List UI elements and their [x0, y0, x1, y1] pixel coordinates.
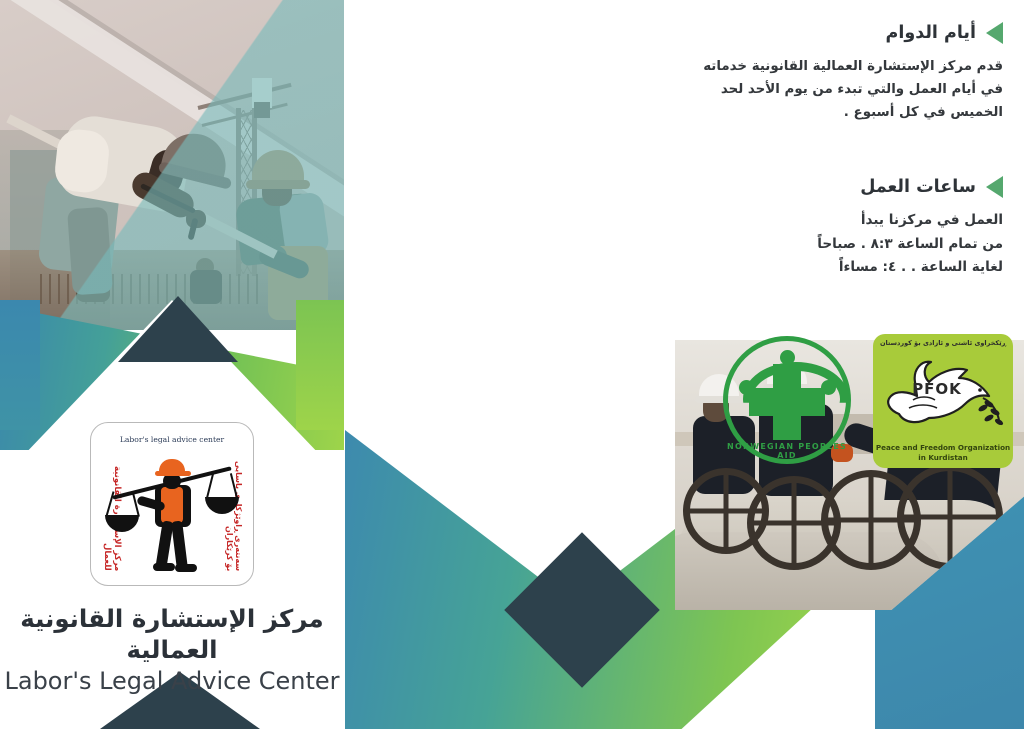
working-days-column: أيام الدوام قدم مركز الإستشارة العمالية …: [703, 22, 1003, 279]
labors-legal-advice-center-logo: Labor's legal advice center مركز الإستشا…: [90, 422, 254, 586]
logo-english-caption: Labor's legal advice center: [91, 435, 253, 444]
pfok-kurdish-text: ڕێکخراوی ئاشتی و ئازادی بۆ کوردستان: [873, 339, 1013, 347]
brochure-page: Labor's legal advice center مركز الإستشا…: [0, 0, 1024, 729]
pfok-abbreviation: PFOK: [873, 380, 1001, 398]
working-hours-heading-row: ساعات العمل: [703, 176, 1003, 198]
left-band-edge-blue: [0, 300, 40, 430]
working-hours-line-2: من تمام الساعة ٨:٣ . صباحاً: [703, 233, 1003, 256]
working-hours-line-3: لغاية الساعة . . ٤: مساءاً: [703, 256, 1003, 279]
left-band-edge-green: [296, 300, 344, 430]
cover-title-block: مركز الإستشارة القانونية العمالية Labor'…: [0, 604, 344, 697]
working-hours-heading: ساعات العمل: [860, 177, 976, 197]
worker-with-scales-figure: [143, 459, 207, 571]
working-days-heading: أيام الدوام: [886, 23, 976, 43]
section-spacer: [703, 124, 1003, 176]
cover-title-english: Labor's Legal Advice Center: [0, 666, 344, 697]
working-hours-line-1: العمل في مركزنا يبدأ: [703, 209, 1003, 232]
panel-divider: [344, 0, 345, 729]
triangle-left-icon: [986, 22, 1003, 44]
pfok-caption: Peace and Freedom Organization in Kurdis…: [873, 443, 1013, 462]
content-panel: NORWEGIAN PEOPLES AID ڕێکخراوی ئاشتی و ئ…: [345, 0, 1024, 729]
dove-icon: [879, 352, 1007, 448]
pfok-caption-line-2: in Kurdistan: [873, 453, 1013, 462]
npa-head-icon: [780, 350, 795, 365]
pfok-caption-line-1: Peace and Freedom Organization: [873, 443, 1013, 452]
working-days-body: قدم مركز الإستشارة العمالية القانونية خد…: [703, 55, 1003, 124]
triangle-left-icon: [986, 176, 1003, 198]
norwegian-peoples-aid-logo: NORWEGIAN PEOPLES AID: [723, 336, 851, 464]
npa-cross-icon: [749, 388, 825, 416]
cover-title-arabic: مركز الإستشارة القانونية العمالية: [0, 604, 344, 665]
cover-panel: Labor's legal advice center مركز الإستشا…: [0, 0, 344, 729]
pfok-logo: ڕێکخراوی ئاشتی و ئازادی بۆ کوردستان: [873, 334, 1013, 468]
working-days-heading-row: أيام الدوام: [703, 22, 1003, 44]
npa-caption: NORWEGIAN PEOPLES AID: [723, 442, 851, 460]
